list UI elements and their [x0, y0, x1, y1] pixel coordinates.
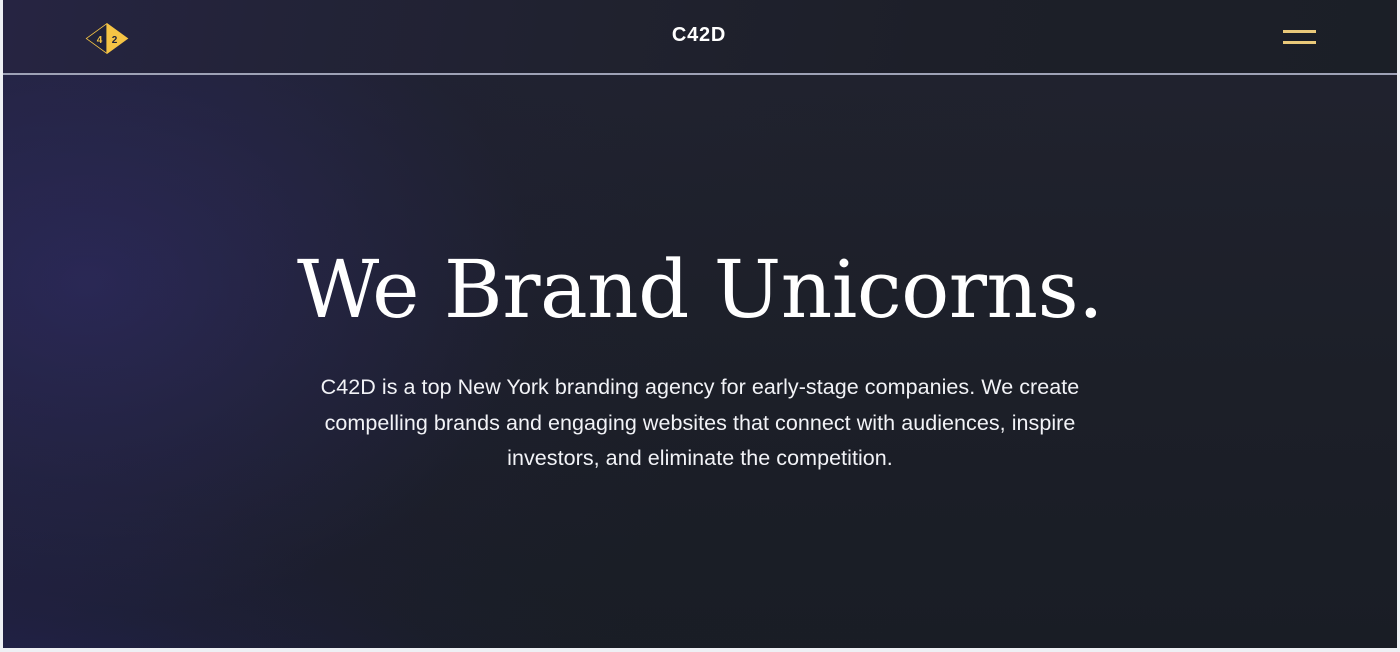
svg-text:4: 4 — [97, 35, 103, 46]
hero-subheadline: C42D is a top New York branding agency f… — [300, 370, 1100, 477]
hero-headline: We Brand Unicorns. — [3, 250, 1397, 330]
site-header: 4 2 C42D — [3, 0, 1397, 75]
page-chrome-left-edge — [0, 0, 3, 652]
browser-viewport: 4 2 C42D We Brand Unicorns. C42D is a to… — [3, 0, 1397, 648]
hamburger-bar-bottom — [1283, 41, 1316, 44]
brand-wordmark: C42D — [3, 0, 1397, 75]
page-chrome-bottom-edge — [0, 648, 1400, 652]
hamburger-menu-icon[interactable] — [1278, 23, 1320, 51]
hero-content: We Brand Unicorns. C42D is a top New Yor… — [3, 75, 1397, 648]
brand-wordmark-text[interactable]: C42D — [672, 24, 726, 47]
c42d-diamond-logo[interactable]: 4 2 — [85, 22, 129, 55]
page-root: 4 2 C42D We Brand Unicorns. C42D is a to… — [0, 0, 1400, 652]
hero-section: We Brand Unicorns. C42D is a top New Yor… — [3, 75, 1397, 648]
hamburger-bar-top — [1283, 30, 1316, 33]
header-divider — [3, 73, 1397, 75]
svg-text:2: 2 — [112, 35, 118, 46]
